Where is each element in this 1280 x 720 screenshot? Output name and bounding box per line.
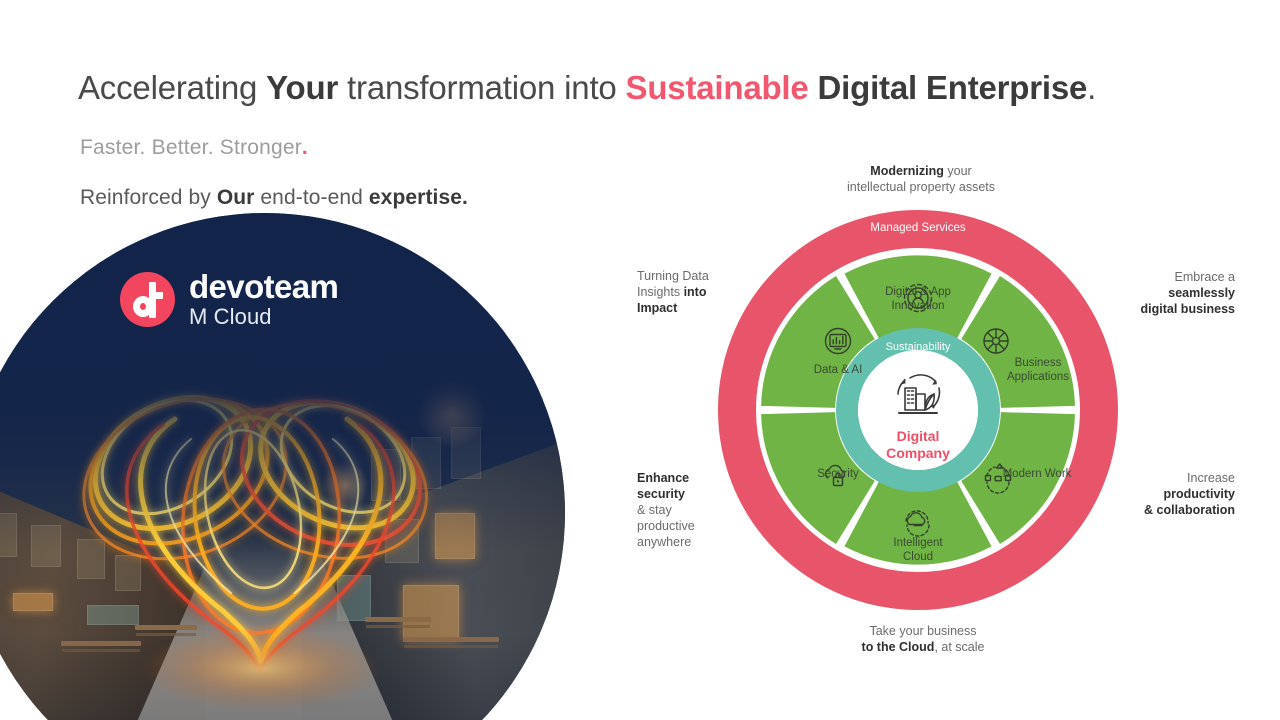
wheel-svg [718, 210, 1118, 610]
headline-bold-digital-enterprise: Digital Enterprise [809, 69, 1088, 106]
annotation-modernizing: Modernizing your intellectual property a… [806, 163, 1036, 195]
headline-period: . [1087, 69, 1096, 106]
managed-services-label: Managed Services [818, 222, 1018, 234]
anno-right1-plain: Embrace a [1115, 269, 1235, 285]
anno-left1-line2-plain: Insights [637, 285, 684, 299]
capability-wheel-diagram: Managed Services Sustainability Digital … [718, 210, 1118, 610]
devoteam-logo: devoteam M Cloud [120, 270, 338, 329]
anno-top-line2: intellectual property assets [806, 179, 1036, 195]
anno-left1-line2-bold: into [684, 285, 707, 299]
logo-mark-stem [149, 282, 156, 318]
annotation-increase-productivity: Increase productivity & collaboration [1115, 470, 1235, 518]
core-title-line1: Digital [858, 428, 978, 445]
annotation-turning-data: Turning Data Insights into Impact [637, 268, 747, 316]
sustainability-label: Sustainability [818, 341, 1018, 353]
core-title-line2: Company [858, 445, 978, 462]
anno-left2-bold2: security [637, 487, 685, 501]
headline-highlight-sustainable: Sustainable [626, 69, 809, 106]
anno-top-rest: your [944, 164, 972, 178]
reinforced-part-1: Reinforced by [80, 186, 217, 209]
devoteam-wordmark: devoteam M Cloud [189, 270, 338, 329]
subtitle-text: Faster. Better. Stronger [80, 136, 302, 159]
tagline-reinforced: Reinforced by Our end-to-end expertise. [80, 186, 468, 210]
anno-left1-line3-bold: Impact [637, 301, 677, 315]
anno-bottom-plain2: , at scale [934, 640, 984, 654]
devoteam-mark-icon [120, 272, 175, 327]
headline-part-2: transformation into [338, 69, 625, 106]
subtitle: Faster. Better. Stronger. [80, 136, 308, 160]
anno-top-bold: Modernizing [870, 164, 944, 178]
annotation-take-to-cloud: Take your business to the Cloud, at scal… [828, 623, 1018, 655]
hero-photo-circle: devoteam M Cloud Creative tech for Bette… [0, 213, 565, 720]
anno-left2-bold1: Enhance [637, 471, 689, 485]
logo-subname: M Cloud [189, 304, 338, 329]
anno-right2-bold1: productivity [1163, 487, 1235, 501]
anno-right1-bold1: seamlessly [1168, 286, 1235, 300]
reinforced-bold-our: Our [217, 186, 255, 209]
reinforced-part-2: end-to-end [254, 186, 368, 209]
anno-left2-rest1: & stay [637, 502, 747, 518]
anno-bottom-bold: to the Cloud [862, 640, 935, 654]
logo-name: devoteam [189, 270, 338, 304]
headline-part-1: Accelerating [78, 69, 266, 106]
anno-right2-plain: Increase [1115, 470, 1235, 486]
anno-right1-bold2: digital business [1141, 302, 1235, 316]
photo-bottom-shade [0, 633, 565, 720]
headline-bold-your: Your [266, 69, 338, 106]
subtitle-accent-dot: . [302, 136, 308, 159]
anno-left2-rest3: anywhere [637, 534, 747, 550]
anno-bottom-plain1: Take your business [828, 623, 1018, 639]
annotation-embrace-digital: Embrace a seamlessly digital business [1115, 269, 1235, 317]
annotation-enhance-security: Enhance security & stay productive anywh… [637, 470, 747, 550]
reinforced-bold-expertise: expertise. [369, 186, 468, 209]
page-title: Accelerating Your transformation into Su… [78, 68, 1238, 108]
anno-left2-rest2: productive [637, 518, 747, 534]
anno-left1-line1: Turning Data [637, 268, 747, 284]
logo-mark-bar [149, 292, 163, 299]
digital-company-title: Digital Company [858, 428, 978, 462]
people-network-icon [905, 285, 932, 312]
anno-right2-bold2: & collaboration [1144, 503, 1235, 517]
